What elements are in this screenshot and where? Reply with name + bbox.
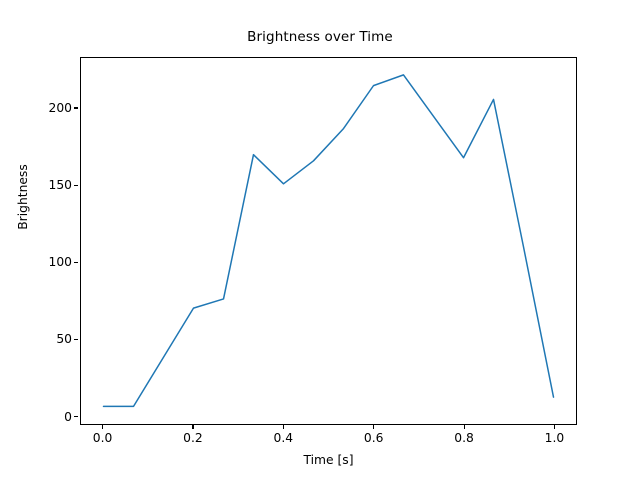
plot-area — [80, 57, 577, 425]
x-axis-label: Time [s] — [80, 453, 577, 467]
x-tick-label: 0.0 — [93, 431, 113, 445]
series-line-brightness — [81, 58, 576, 424]
y-axis-tick-labels: 050100150200 — [0, 0, 72, 480]
y-tick-label: 150 — [49, 178, 72, 192]
y-tick-mark — [74, 262, 78, 263]
x-tick-mark — [102, 425, 103, 429]
x-tick-label: 0.6 — [364, 431, 384, 445]
y-tick-label: 200 — [49, 101, 72, 115]
x-tick-mark — [554, 425, 555, 429]
x-tick-label: 0.2 — [183, 431, 203, 445]
x-tick-mark — [464, 425, 465, 429]
y-tick-mark — [74, 416, 78, 417]
y-tick-mark — [74, 185, 78, 186]
y-tick-mark — [74, 107, 78, 108]
x-tick-mark — [283, 425, 284, 429]
y-tick-label: 100 — [49, 255, 72, 269]
chart-title: Brightness over Time — [0, 29, 640, 45]
x-tick-mark — [192, 425, 193, 429]
y-tick-label: 0 — [64, 410, 72, 424]
y-tick-label: 50 — [56, 332, 72, 346]
x-tick-label: 0.8 — [454, 431, 474, 445]
x-tick-label: 1.0 — [545, 431, 565, 445]
chart-figure: Brightness over Time Brightness 05010015… — [0, 0, 640, 480]
y-tick-mark — [74, 339, 78, 340]
x-tick-label: 0.4 — [274, 431, 294, 445]
x-tick-mark — [373, 425, 374, 429]
